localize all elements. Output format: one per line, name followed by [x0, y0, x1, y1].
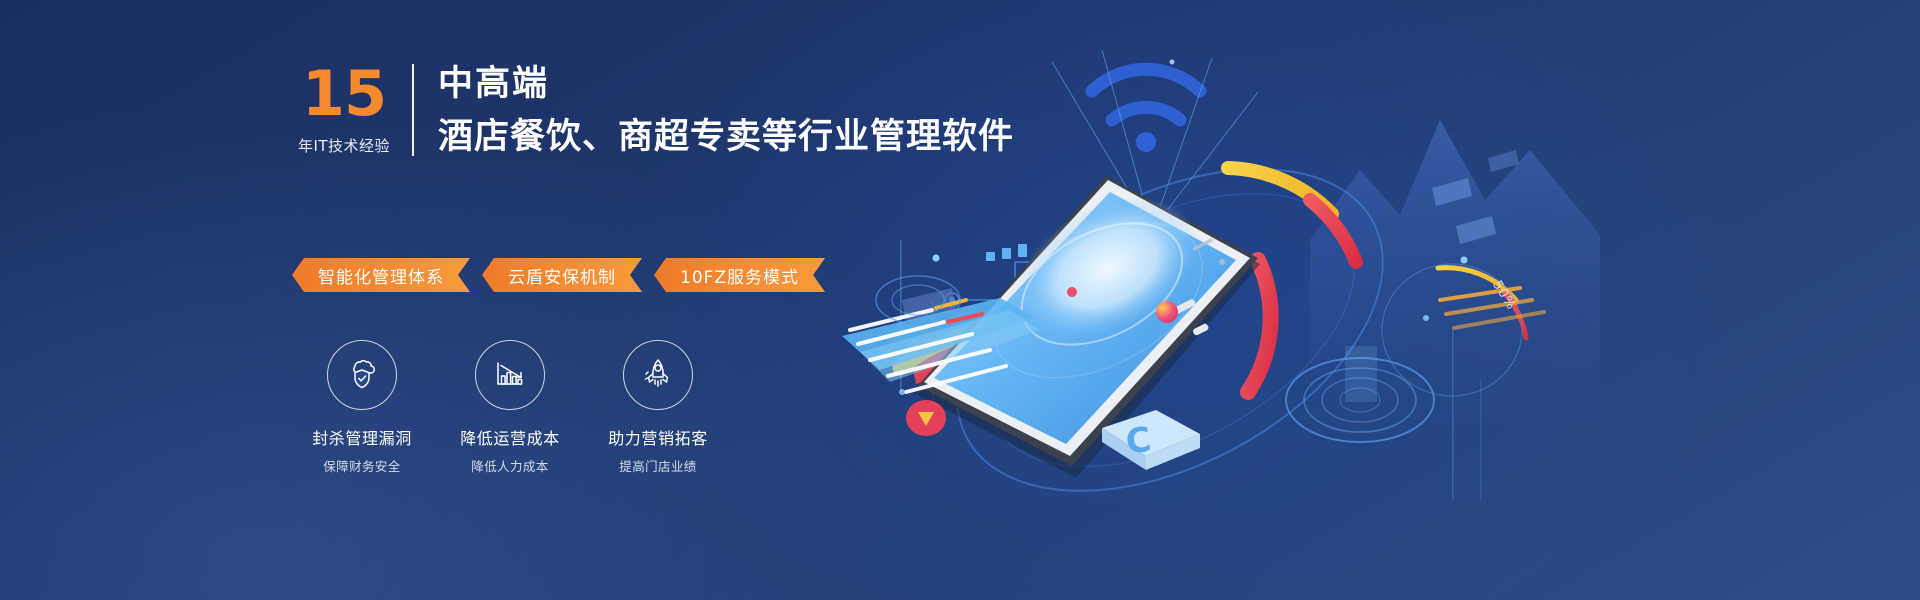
feature-subtitle-3: 提高门店业绩	[619, 456, 696, 475]
coin-badge	[906, 400, 946, 436]
title-line-1: 中高端	[438, 62, 1014, 106]
dash-marks	[986, 244, 1027, 261]
title-line-2: 酒店餐饮、商超专卖等行业管理软件	[438, 114, 1014, 160]
feature-icon-circle-2	[475, 340, 545, 410]
feature-subtitle-1: 保障财务安全	[323, 456, 400, 475]
tag-pill-3[interactable]: 10FZ服务模式	[654, 258, 825, 292]
radar-beam	[1345, 346, 1377, 402]
vertical-divider	[412, 64, 414, 156]
years-block: 15 年IT技术经验	[290, 62, 412, 160]
hero-banner: C	[0, 0, 1920, 600]
screen-dot	[1156, 301, 1178, 323]
headline-row: 15 年IT技术经验 中高端 酒店餐饮、商超专卖等行业管理软件	[290, 62, 1050, 160]
feature-list: 封杀管理漏洞 保障财务安全 降低运营成本 降低人力成本	[288, 340, 732, 475]
declining-bar-chart-icon	[491, 356, 529, 394]
pink-dot	[1067, 287, 1077, 297]
tag-pill-2[interactable]: 云盾安保机制	[482, 258, 642, 292]
feature-title-1: 封杀管理漏洞	[312, 425, 412, 449]
feature-icon-circle-3	[623, 340, 693, 410]
years-caption: 年IT技术经验	[290, 136, 398, 156]
feature-item-1[interactable]: 封杀管理漏洞 保障财务安全	[288, 340, 436, 475]
feature-title-2: 降低运营成本	[460, 425, 560, 449]
tag-pill-1[interactable]: 智能化管理体系	[292, 258, 470, 292]
feature-item-2[interactable]: 降低运营成本 降低人力成本	[436, 340, 584, 475]
red-arc	[1248, 260, 1271, 392]
title-block: 中高端 酒店餐饮、商超专卖等行业管理软件	[414, 62, 1014, 160]
feature-item-3[interactable]: 助力营销拓客 提高门店业绩	[584, 340, 732, 475]
feature-icon-circle-1	[327, 340, 397, 410]
feature-subtitle-2: 降低人力成本	[471, 456, 548, 475]
cloud-shield-icon	[343, 356, 381, 394]
years-number: 15	[290, 62, 398, 126]
wifi-signal-icon	[1092, 69, 1200, 120]
rocket-icon	[639, 356, 677, 394]
wifi-dot	[1136, 132, 1156, 152]
feature-title-3: 助力营销拓客	[608, 425, 708, 449]
hero-text-column: 15 年IT技术经验 中高端 酒店餐饮、商超专卖等行业管理软件	[290, 62, 1050, 160]
feature-tags: 智能化管理体系 云盾安保机制 10FZ服务模式	[292, 258, 825, 292]
